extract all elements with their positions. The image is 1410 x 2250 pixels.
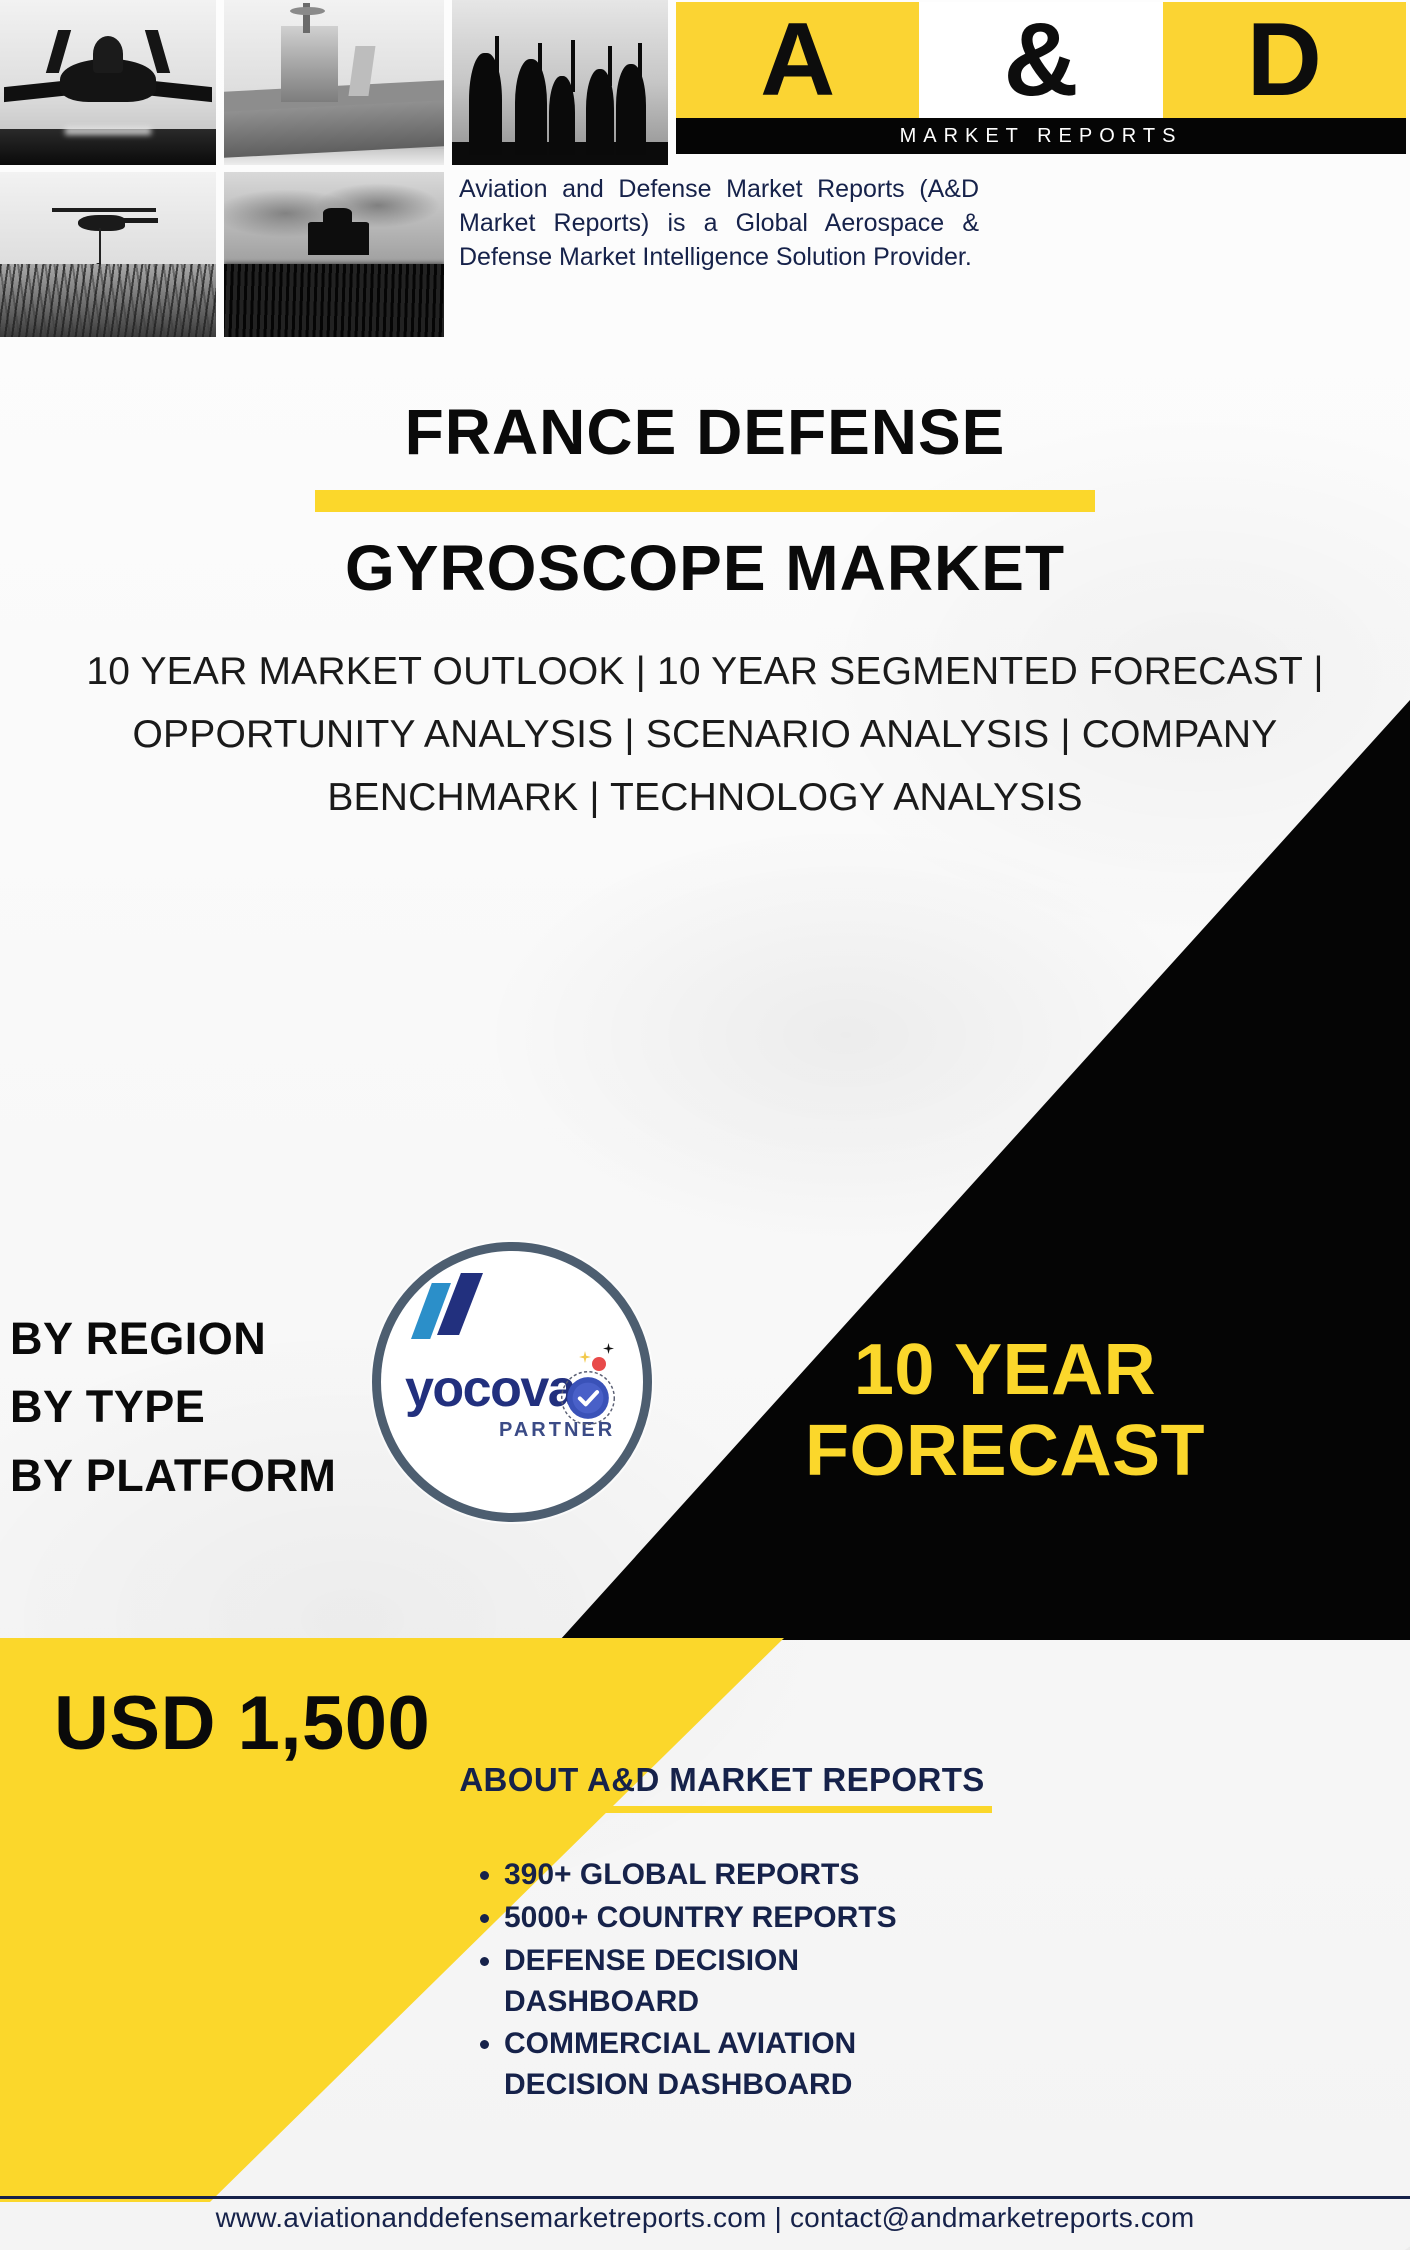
ship-tower-shape [281, 26, 338, 102]
about-heading: ABOUT A&D MARKET REPORTS [452, 1762, 992, 1798]
ship-radar-shape [290, 7, 325, 15]
rappel-rope-shape [99, 228, 101, 268]
header-photo-strip [0, 0, 668, 338]
footer-divider [0, 2196, 1410, 2199]
logo-subtitle-text: MARKET REPORTS [900, 125, 1183, 148]
rifle-shape [495, 36, 499, 79]
logo-letter-row: A & D [676, 2, 1406, 118]
forecast-callout: 10 YEAR FORECAST [600, 1330, 1410, 1491]
price-value: USD 1,500 [54, 1680, 430, 1767]
helicopter-tail-shape [119, 218, 158, 223]
rifle-shape [638, 43, 642, 83]
armored-vehicle-photo [224, 172, 444, 337]
segment-item-region: BY REGION [10, 1305, 336, 1373]
ad-market-reports-logo: A & D MARKET REPORTS [676, 2, 1406, 154]
about-yellow-rule [452, 1806, 992, 1813]
company-intro-paragraph: Aviation and Defense Market Reports (A&D… [459, 172, 979, 274]
about-section: ABOUT A&D MARKET REPORTS 390+ GLOBAL REP… [452, 1762, 992, 2108]
fighter-jet-photo [0, 0, 216, 165]
about-bullet-country-reports: 5000+ COUNTRY REPORTS [504, 1898, 992, 1939]
rifle-shape [538, 43, 542, 83]
logo-subtitle-bar: MARKET REPORTS [676, 118, 1406, 154]
page-title-line-2: GYROSCOPE MARKET [0, 536, 1410, 600]
vehicle-body-shape [308, 222, 370, 255]
about-bullet-global-reports: 390+ GLOBAL REPORTS [504, 1855, 992, 1896]
jet-left-tail-shape [46, 30, 71, 73]
rough-ground-shape [224, 264, 444, 337]
report-scope-subtitle: 10 YEAR MARKET OUTLOOK | 10 YEAR SEGMENT… [40, 640, 1370, 830]
helicopter-photo [0, 172, 216, 337]
segment-item-type: BY TYPE [10, 1373, 336, 1441]
report-title-block: FRANCE DEFENSE GYROSCOPE MARKET [0, 400, 1410, 600]
poster-root: A & D MARKET REPORTS Aviation and Defens… [0, 0, 1410, 2250]
soldier-silhouette [616, 64, 646, 155]
forecast-line-1: 10 YEAR [600, 1330, 1410, 1411]
logo-letter-d: D [1163, 2, 1406, 118]
yocova-arrow-dark-shape [437, 1273, 483, 1335]
segment-item-platform: BY PLATFORM [10, 1442, 336, 1510]
rifle-shape [608, 46, 612, 86]
title-yellow-rule [315, 490, 1095, 512]
jet-nose-shape [93, 36, 123, 72]
logo-letter-ampersand: & [919, 2, 1162, 118]
forecast-line-2: FORECAST [600, 1411, 1410, 1492]
soldiers-silhouette-photo [452, 0, 668, 165]
rifle-shape [571, 40, 575, 93]
about-bullet-defense-dashboard: DEFENSE DECISION DASHBOARD [504, 1941, 992, 2023]
yocova-arrow-icon [411, 1273, 497, 1339]
jet-right-tail-shape [145, 30, 170, 73]
about-bullet-list: 390+ GLOBAL REPORTS 5000+ COUNTRY REPORT… [452, 1855, 992, 2106]
about-bullet-commercial-dashboard: COMMERCIAL AVIATION DECISION DASHBOARD [504, 2024, 992, 2106]
segmentation-list: BY REGION BY TYPE BY PLATFORM [10, 1305, 336, 1510]
warship-photo [224, 0, 444, 165]
page-title-line-1: FRANCE DEFENSE [0, 400, 1410, 464]
footer-contact[interactable]: www.aviationanddefensemarketreports.com … [0, 2202, 1410, 2234]
jet-glow-shape [65, 127, 151, 135]
logo-letter-a: A [676, 2, 919, 118]
helicopter-rotor-shape [52, 208, 156, 212]
yellow-sparkle-icon [579, 1351, 591, 1363]
field-grass-shape [0, 264, 216, 337]
